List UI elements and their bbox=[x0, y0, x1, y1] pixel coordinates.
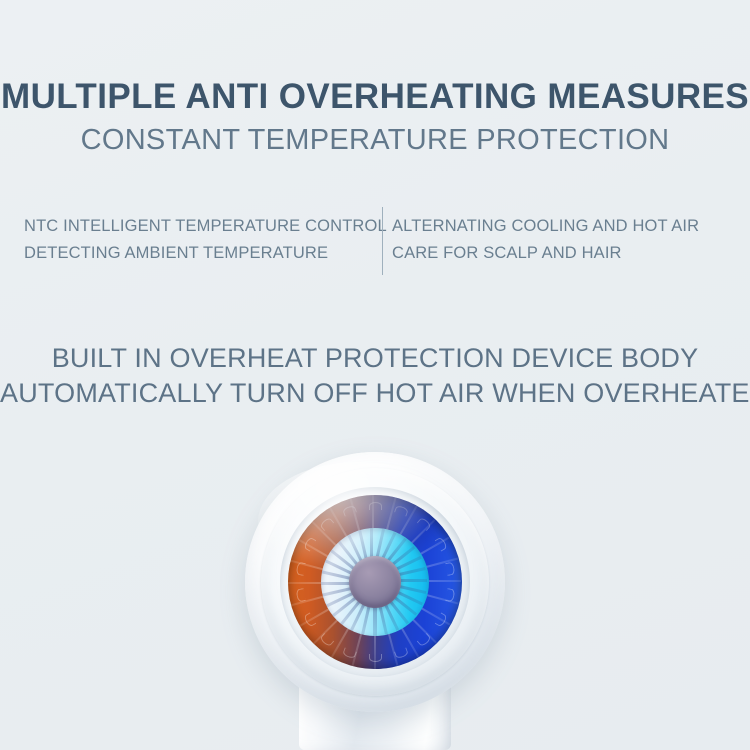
product-image bbox=[0, 440, 750, 750]
statement-line-2: AUTOMATICALLY TURN OFF HOT AIR WHEN OVER… bbox=[0, 376, 750, 411]
feature-column-left: NTC INTELLIGENT TEMPERATURE CONTROL DETE… bbox=[24, 213, 387, 266]
statement-block: BUILT IN OVERHEAT PROTECTION DEVICE BODY… bbox=[0, 341, 750, 411]
feature-right-line-1: ALTERNATING COOLING AND HOT AIR bbox=[392, 213, 699, 240]
headline-block: MULTIPLE ANTI OVERHEATING MEASURES CONST… bbox=[0, 76, 750, 158]
feature-divider bbox=[382, 207, 383, 275]
dryer-air-grille bbox=[288, 495, 462, 669]
feature-column-right: ALTERNATING COOLING AND HOT AIR CARE FOR… bbox=[392, 213, 699, 266]
feature-row: NTC INTELLIGENT TEMPERATURE CONTROL DETE… bbox=[0, 205, 750, 283]
feature-left-line-2: DETECTING AMBIENT TEMPERATURE bbox=[24, 240, 387, 267]
feature-left-line-1: NTC INTELLIGENT TEMPERATURE CONTROL bbox=[24, 213, 387, 240]
headline-sub: CONSTANT TEMPERATURE PROTECTION bbox=[0, 123, 750, 157]
headline-main: MULTIPLE ANTI OVERHEATING MEASURES bbox=[0, 76, 750, 117]
product-feature-banner: MULTIPLE ANTI OVERHEATING MEASURES CONST… bbox=[0, 0, 750, 750]
feature-right-line-2: CARE FOR SCALP AND HAIR bbox=[392, 240, 699, 267]
statement-line-1: BUILT IN OVERHEAT PROTECTION DEVICE BODY bbox=[0, 341, 750, 376]
fan-center-hub bbox=[349, 556, 401, 608]
